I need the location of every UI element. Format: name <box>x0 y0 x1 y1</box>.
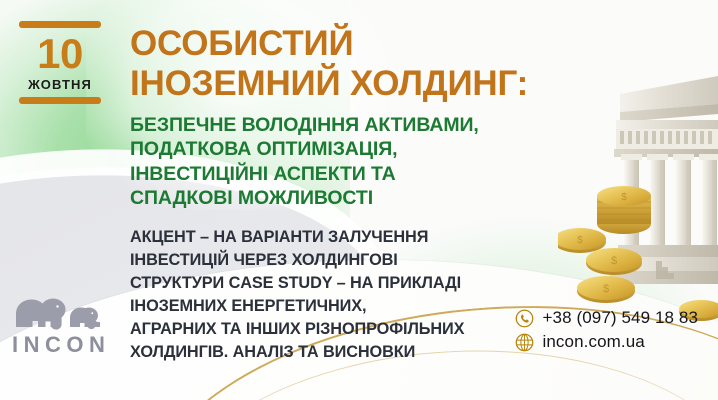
building-entablature <box>614 120 718 157</box>
body-text: АКЦЕНТ – НА ВАРІАНТИ ЗАЛУЧЕННЯ ІНВЕСТИЦІ… <box>130 226 550 365</box>
headline-line-1: ОСОБИСТИЙ <box>130 24 610 64</box>
globe-circle-icon <box>515 333 534 352</box>
body-line-2: ІНВЕСТИЦІЙ ЧЕРЕЗ ХОЛДИНГОВІ <box>130 249 550 272</box>
svg-text:$: $ <box>611 255 617 267</box>
subtitle-line-1: БЕЗПЕЧНЕ ВОЛОДІННЯ АКТИВАМИ, <box>130 113 560 137</box>
body-line-4: ІНОЗЕМНИХ ЕНЕРГЕТИЧНИХ, <box>130 295 550 318</box>
subtitle: БЕЗПЕЧНЕ ВОЛОДІННЯ АКТИВАМИ, ПОДАТКОВА О… <box>130 113 560 210</box>
body-line-1: АКЦЕНТ – НА ВАРІАНТИ ЗАЛУЧЕННЯ <box>130 226 550 249</box>
headline-line-2: ІНОЗЕМНИЙ ХОЛДИНГ: <box>130 64 610 104</box>
event-date-badge: 10 ЖОВТНЯ <box>14 21 106 104</box>
subtitle-line-3: ІНВЕСТИЦІЙНІ АСПЕКТИ ТА <box>130 162 560 186</box>
phone-circle-icon <box>515 309 534 328</box>
logo-wordmark: INCON <box>12 333 124 357</box>
subtitle-line-2: ПОДАТКОВА ОПТИМІЗАЦІЯ, <box>130 137 560 161</box>
company-logo[interactable]: INCON <box>12 286 124 357</box>
svg-text:$: $ <box>603 283 609 295</box>
contact-website-row[interactable]: incon.com.ua <box>515 332 699 352</box>
date-month: ЖОВТНЯ <box>14 77 106 92</box>
date-rule-bottom <box>19 97 101 104</box>
event-announcement-banner: $ $ $ $ <box>0 0 718 400</box>
building-pediment <box>620 76 718 122</box>
body-line-5: АГРАРНИХ ТА ІНШИХ РІЗНОПРОФІЛЬНИХ <box>130 318 550 341</box>
contact-block: +38 (097) 549 18 83 incon.com.ua <box>515 308 699 352</box>
body-line-6: ХОЛДИНГІВ. АНАЛІЗ ТА ВИСНОВКИ <box>130 341 550 364</box>
website-url: incon.com.ua <box>543 332 645 352</box>
svg-text:$: $ <box>577 235 583 246</box>
body-line-3: СТРУКТУРИ CASE STUDY – НА ПРИКЛАДІ <box>130 272 550 295</box>
coin-stack: $ <box>597 186 651 234</box>
two-elephants-icon <box>12 286 120 332</box>
headline: ОСОБИСТИЙ ІНОЗЕМНИЙ ХОЛДИНГ: <box>130 24 610 104</box>
phone-number: +38 (097) 549 18 83 <box>543 308 699 328</box>
date-rule-top <box>19 21 101 28</box>
contact-phone-row[interactable]: +38 (097) 549 18 83 <box>515 308 699 328</box>
subtitle-line-4: СПАДКОВІ МОЖЛИВОСТІ <box>130 186 560 210</box>
svg-text:$: $ <box>621 192 627 203</box>
date-day: 10 <box>14 32 106 76</box>
